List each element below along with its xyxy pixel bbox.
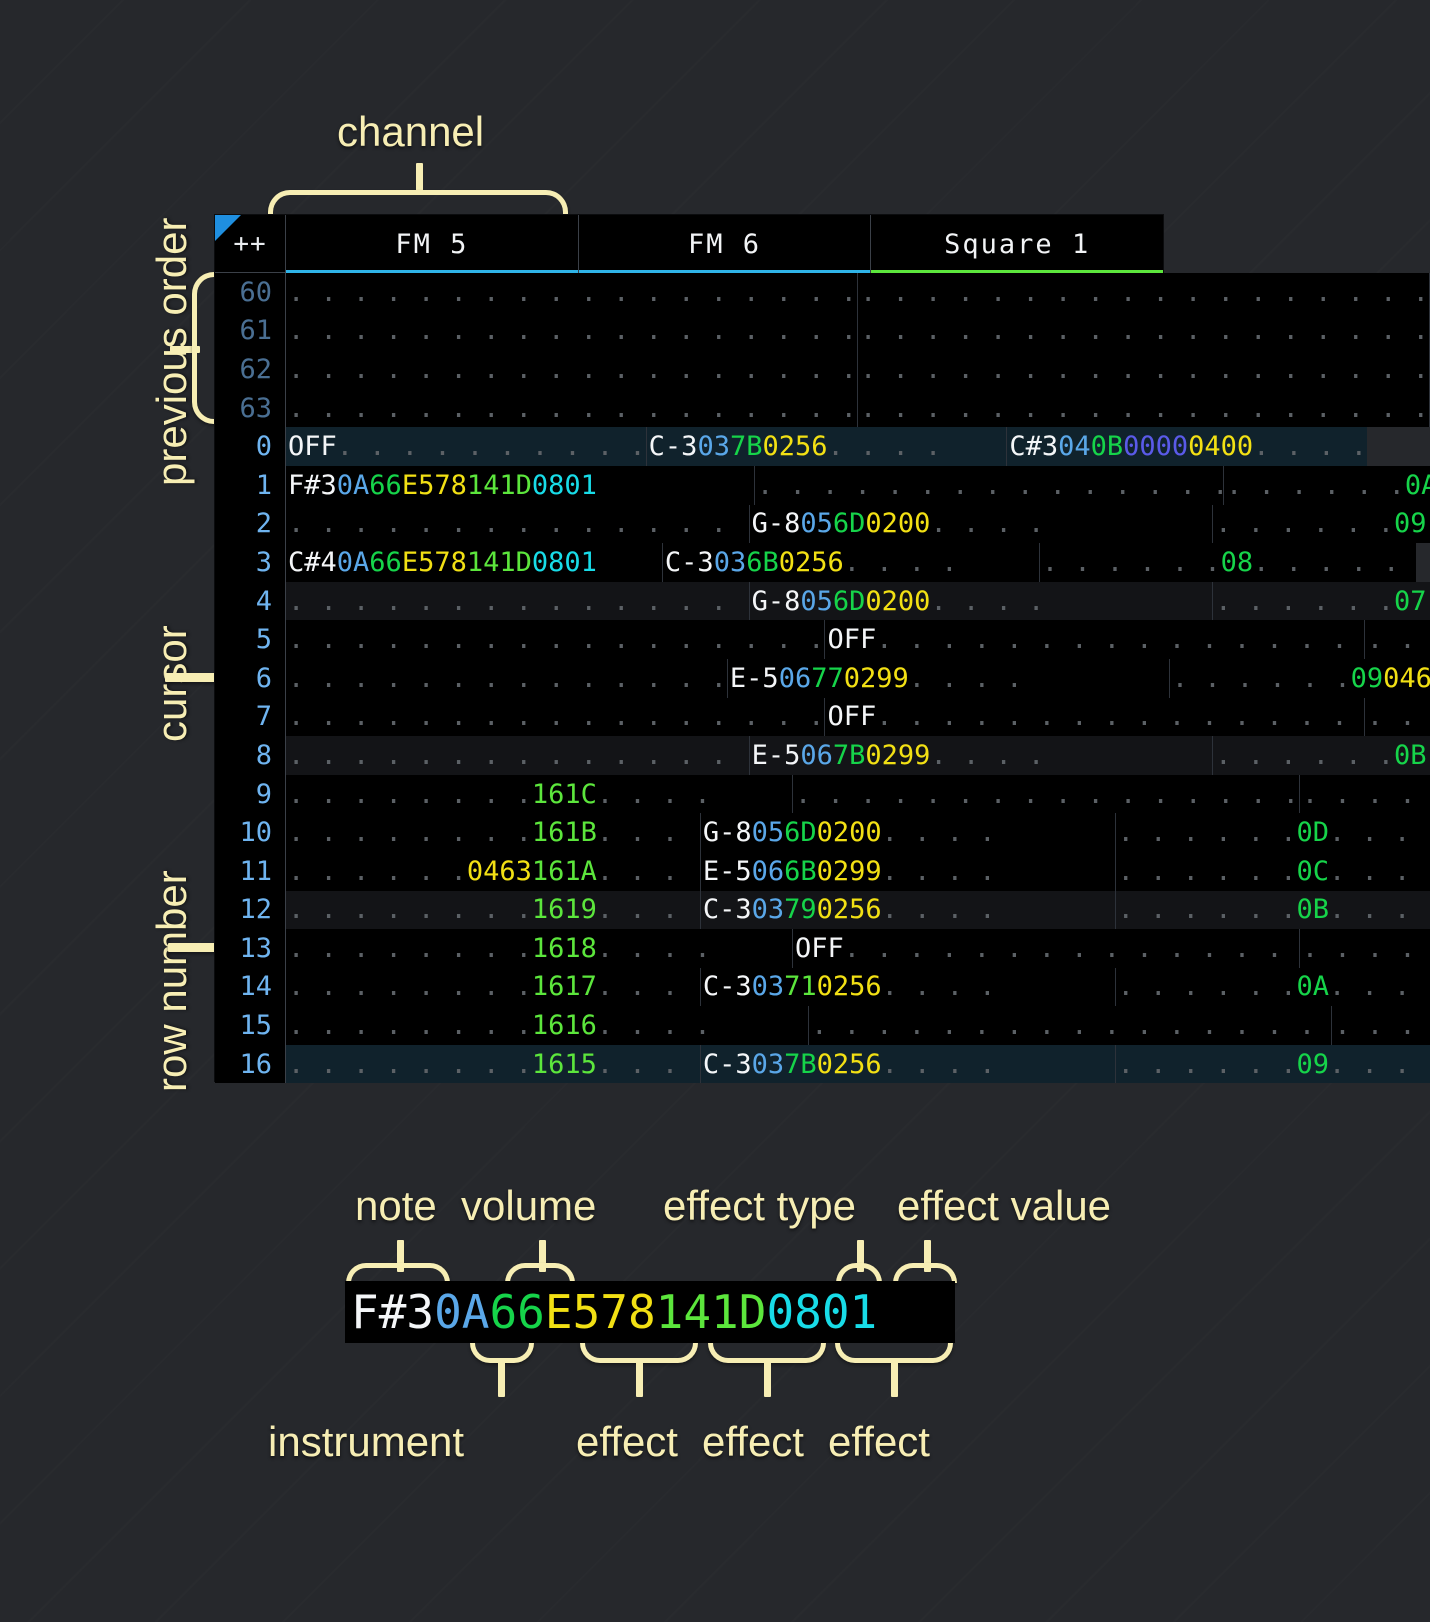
pattern-segment: 0A [337,470,370,501]
pattern-segment: 141D [467,470,532,501]
pattern-segment: . . . . . . . . . . [1427,586,1430,617]
row-number: 9 [215,775,286,814]
row-number: 63 [215,389,286,428]
pattern-row-cells: OFF. . . . . . . . . .0A00C-3037B0256. .… [286,427,1367,466]
pattern-row-cells: . . . . . .0463161A. . . .E-5066B0299. .… [286,852,1430,891]
pattern-row[interactable]: 10. . . . . . . .161B. . . .G-8056D0200.… [215,813,1163,852]
row-number: 8 [215,736,286,775]
pattern-cell[interactable]: . . . . . . . . . . . . . . . . . . [755,466,1224,505]
pattern-segment: . . . . . . [1215,586,1394,617]
pattern-segment: 6B [784,856,817,887]
pattern-row[interactable]: 61. . . . . . . . . . . . . . . . . .. .… [215,312,1163,351]
pattern-segment: 0A [1296,971,1329,1002]
pattern-cell[interactable]: . . . . . . . .1619. . . . [286,891,701,930]
pattern-cell[interactable]: C-3036B0256. . . . [663,543,1040,582]
pattern-segment: 0256 [762,431,827,462]
pattern-segment: 0400 [1188,431,1253,462]
pattern-segment: . . . . . . . . . . [1329,817,1430,848]
pattern-segment: . . . . . . . . . . . . . . . . . . [757,470,1224,501]
pattern-segment: . . . . . . . . . . . . . . . . . . [1302,933,1430,964]
pattern-cell[interactable]: . . . . . . . .161C. . . . [286,775,793,814]
order-corner-cell[interactable]: ++ [215,215,286,273]
pattern-segment: . . . . . . [288,856,467,887]
pattern-cell[interactable]: . . . . . .0A. . . . . . . . . . [1116,968,1430,1007]
pattern-segment: . . . . [930,740,1044,771]
pattern-cell[interactable]: G-8056D0200. . . . [750,582,1214,621]
row-number: 16 [215,1045,286,1084]
pattern-segment: . . . . . . . . [288,894,532,925]
pattern-segment: 79 [784,894,817,925]
pattern-row-cells: . . . . . . . .1619. . . .C-303790256. .… [286,891,1430,930]
pattern-row[interactable]: 15. . . . . . . .1616. . . .. . . . . . … [215,1006,1163,1045]
annotation-effect3-bracket [835,1343,953,1363]
pattern-segment: 141D [467,547,532,578]
pattern-segment: . . . . . . [1118,894,1297,925]
pattern-cell[interactable]: . . . . . .0B. . . . . . . . . . [1116,891,1430,930]
pattern-segment: . . . . . . . . . . . . . . . . . . [288,393,857,424]
detail-effect-1: E578 [545,1285,656,1339]
pattern-segment: . . . . . . [1042,547,1221,578]
pattern-segment: . . . . [882,894,996,925]
annotation-effect2-bracket [708,1343,826,1363]
pattern-cell[interactable]: . . . . . . . . . . . . . . . . . . [286,698,825,737]
pattern-cell[interactable]: . . . . . .0D. . . . . . . . . . [1116,813,1430,852]
pattern-row[interactable]: 0OFF. . . . . . . . . .0A00C-3037B0256. … [215,427,1163,466]
pattern-segment: . . . . . . . . . . . . . . . . . . [795,779,1300,810]
pattern-segment: G-8 [703,817,752,848]
pattern-segment: OFF [827,701,876,732]
row-number: 11 [215,852,286,891]
pattern-segment: 0000 [1123,431,1188,462]
pattern-row[interactable]: 63. . . . . . . . . . . . . . . . . .. .… [215,389,1163,428]
pattern-segment: . . . . . . . . . . [1329,894,1430,925]
pattern-segment: 0801 [532,547,597,578]
pattern-cell[interactable]: . . . . . . . . . . . . . . . . . . [286,505,750,544]
detail-effect-3: 0801 [766,1285,877,1339]
row-number: 12 [215,891,286,930]
pattern-cell[interactable]: G-8056D0200. . . . [701,813,1116,852]
pattern-segment: . . . . [882,856,996,887]
pattern-segment: 03 [714,547,747,578]
pattern-row-cells: . . . . . . . .1617. . . .C-303710256. .… [286,968,1430,1007]
detail-note: F#3 [351,1285,434,1339]
pattern-segment: 0464 [1383,663,1430,694]
pattern-cell[interactable]: . . . . . . . . . . . . . . . . . . [858,273,1430,312]
pattern-cell[interactable]: . . . . . . . . . . . . . . . . . . [286,582,750,621]
pattern-segment: 03 [752,1049,785,1080]
annotation-previous-order-bracket [192,272,216,424]
pattern-row-cells: . . . . . . . .161B. . . .G-8056D0200. .… [286,813,1430,852]
pattern-row-cells: . . . . . . . . . . . . . . . . . .G-805… [286,582,1430,621]
row-number: 1 [215,466,286,505]
pattern-segment: OFF [795,933,844,964]
pattern-cell[interactable]: . . . . . . . . . . . . . . . . . . [1332,1006,1430,1045]
pattern-segment: 0A [1405,470,1430,501]
pattern-segment: G-8 [752,508,801,539]
annotation-effect1-stem [636,1361,643,1397]
pattern-segment: 0B [1296,894,1329,925]
channel-name: FM 5 [395,229,468,260]
pattern-segment: 06 [752,856,785,887]
annotation-effect-value-bracket [893,1263,957,1283]
pattern-cell[interactable]: . . . . . . . . . . . . . . . . . . [286,350,858,389]
pattern-row[interactable]: 7. . . . . . . . . . . . . . . . . .OFF.… [215,698,1163,737]
pattern-segment: . . . . . . [1215,740,1394,771]
row-number: 13 [215,929,286,968]
pattern-cell[interactable]: . . . . . . . .1618. . . . [286,929,793,968]
pattern-segment: . . . . . . . . . . . . . . . . . . [288,586,750,617]
annotation-cursor-label: cursor [148,625,196,742]
pattern-segment: 0D [1296,817,1329,848]
pattern-cell[interactable]: . . . . . .0A. . . . . . . . . . [1224,466,1430,505]
pattern-segment: 0256 [779,547,844,578]
pattern-cell[interactable]: G-8056D0200. . . . [750,505,1214,544]
pattern-row-cells: . . . . . . . . . . . . . . . . . .. . .… [286,273,1430,312]
pattern-segment: . . . . . . . . . . . . . . . . . . [288,624,825,655]
pattern-cell[interactable]: . . . . . . . . . . . . . . . . . . [858,312,1430,351]
row-number: 10 [215,813,286,852]
pattern-segment: 77 [811,663,844,694]
pattern-segment: C#3 [1009,431,1058,462]
pattern-segment: 07 [1394,586,1427,617]
pattern-segment: . . . . . . . . . . . . . . . . . . [288,663,728,694]
pattern-row-cells: . . . . . . . . . . . . . . . . . .G-805… [286,505,1430,544]
annotation-effect2-label: effect [702,1418,804,1466]
row-number: 14 [215,968,286,1007]
pattern-cell[interactable]: OFF. . . . . . . . . . . . . . . [825,620,1364,659]
annotation-instrument-bracket [470,1343,534,1363]
corner-triangle-icon [215,215,241,241]
pattern-row[interactable]: 5. . . . . . . . . . . . . . . . . .OFF.… [215,620,1163,659]
pattern-segment: 0B [1091,431,1124,462]
annotation-instrument-stem [498,1361,505,1397]
pattern-segment: . . . . [597,779,711,810]
pattern-row-cells: . . . . . . . .1615. . . .C-3037B0256. .… [286,1045,1430,1084]
annotation-effect3-label: effect [828,1418,930,1466]
pattern-segment: . . . . . . . . . . . . . . . . . . [288,701,825,732]
pattern-segment: E-5 [730,663,779,694]
pattern-segment: . . . . [597,933,711,964]
pattern-segment: . . . . . . [1118,856,1297,887]
pattern-segment: . . . . . . . . [288,933,532,964]
pattern-segment: . . . . [597,1049,701,1080]
pattern-segment: 7B [730,431,763,462]
pattern-segment: F#3 [288,470,337,501]
pattern-segment: . . . . . . [1367,624,1430,655]
pattern-segment: . . . . [597,894,701,925]
channel-header-row: ++ FM 5 FM 6 Square 1 [215,215,1163,273]
pattern-cell[interactable]: C-3037B0256. . . . [701,1045,1116,1084]
pattern-segment: . . . . . . [1118,1049,1297,1080]
pattern-segment: 1616 [532,1010,597,1041]
pattern-cell[interactable]: . . . . . .09. . . . . . . . . . [1116,1045,1430,1084]
pattern-segment: 03 [752,971,785,1002]
row-number: 62 [215,350,286,389]
pattern-segment: 0463 [467,856,532,887]
pattern-segment: . . . . [828,431,942,462]
annotation-effect-type-bracket [836,1263,882,1283]
pattern-row[interactable]: 8. . . . . . . . . . . . . . . . . .E-50… [215,736,1163,775]
pattern-segment: . . . . [597,971,701,1002]
pattern-cell[interactable]: E-506770299. . . . [728,659,1170,698]
pattern-cell[interactable]: . . . . . . . . . . . . . . . . . . [286,273,858,312]
channel-header-fm5[interactable]: FM 5 [286,215,579,273]
detail-effect-2: 141D [656,1285,767,1339]
pattern-row[interactable]: 16. . . . . . . .1615. . . .C-3037B0256.… [215,1045,1163,1084]
pattern-cell[interactable]: OFF. . . . . . . . . . . . . . . [825,698,1364,737]
pattern-segment: . . . . . . [1367,701,1430,732]
pattern-cell[interactable]: E-5066B0299. . . . [701,852,1116,891]
pattern-cell[interactable]: OFF. . . . . . . . . . . . . . . [793,929,1300,968]
pattern-segment: . . . . . . [1118,817,1297,848]
pattern-segment: 161B [532,817,597,848]
pattern-segment: . . . . . . . . . . . . . . . . . . [860,354,1429,385]
pattern-segment: . . . . [909,663,1023,694]
pattern-segment: . . . . [882,971,996,1002]
pattern-row[interactable]: 14. . . . . . . .1617. . . .C-303710256.… [215,968,1163,1007]
pattern-segment: C-3 [703,894,752,925]
pattern-segment: 1618 [532,933,597,964]
detail-instrument: 0A [434,1285,489,1339]
pattern-row-cells: . . . . . . . .1616. . . .. . . . . . . … [286,1006,1430,1045]
row-number: 60 [215,273,286,312]
pattern-cell[interactable]: . . . . . . . . . . . . . . . . . . [286,312,858,351]
annotation-channel-stem [416,163,423,193]
pattern-segment: . . . . [882,1049,996,1080]
annotation-effect-value-label: effect value [897,1182,1111,1230]
pattern-segment: 1619 [532,894,597,925]
pattern-segment: 0256 [817,971,882,1002]
row-number: 5 [215,620,286,659]
pattern-row-cells: . . . . . . . . . . . . . . . . . .OFF. … [286,698,1430,737]
pattern-segment: . . . . . . . . [288,1049,532,1080]
pattern-segment: 6D [833,586,866,617]
pattern-row[interactable]: 12. . . . . . . .1619. . . .C-303790256.… [215,891,1163,930]
pattern-cell[interactable]: . . . . . .0A. . . . . . . . . . [1365,698,1430,737]
pattern-row[interactable]: 3C#40A66E578141D0801C-3036B0256. . . .. … [215,543,1163,582]
pattern-segment: 0C [1296,856,1329,887]
annotation-volume-label: volume [461,1182,596,1230]
annotation-note-bracket [346,1263,450,1283]
pattern-row[interactable]: 9. . . . . . . .161C. . . .. . . . . . .… [215,775,1163,814]
pattern-cell[interactable]: OFF. . . . . . . . . .0A00 [286,427,647,466]
pattern-cell[interactable]: . . . . . . . . . . . . . . . . . . [286,389,858,428]
pattern-segment: . . . . . . . . . . . . . . . . . . [860,277,1429,308]
pattern-segment: 1615 [532,1049,597,1080]
pattern-segment: . . . . [844,547,958,578]
row-number: 2 [215,505,286,544]
pattern-segment: 09 [1351,663,1384,694]
channel-header-fm6[interactable]: FM 6 [579,215,872,273]
pattern-row-cells: . . . . . . . . . . . . . . . . . .. . .… [286,350,1430,389]
pattern-segment: . . . . . . . . . . [1329,1049,1430,1080]
pattern-cell[interactable]: . . . . . . . .1617. . . . [286,968,701,1007]
pattern-row-cells: . . . . . . . . . . . . . . . . . .. . .… [286,389,1430,428]
pattern-segment: OFF [288,431,337,462]
pattern-segment: 03 [697,431,730,462]
pattern-row-cells: . . . . . . . .161C. . . .. . . . . . . … [286,775,1430,814]
annotation-effect1-bracket [580,1343,698,1363]
row-number: 61 [215,312,286,351]
pattern-row[interactable]: 62. . . . . . . . . . . . . . . . . .. .… [215,350,1163,389]
pattern-segment: . . . . . . . . [288,817,532,848]
channel-name: Square 1 [944,229,1090,260]
pattern-segment: . . . . . . [1215,508,1394,539]
pattern-row[interactable]: 1F#30A66E578141D0801. . . . . . . . . . … [215,466,1163,505]
pattern-cell[interactable]: . . . . . . . . . . . . . . . . . . [858,389,1430,428]
pattern-segment: E578 [402,470,467,501]
pattern-segment: 05 [800,586,833,617]
pattern-segment: . . . . [1253,431,1367,462]
row-number: 15 [215,1006,286,1045]
pattern-row[interactable]: 6. . . . . . . . . . . . . . . . . .E-50… [215,659,1163,698]
pattern-segment: . . . . [597,817,701,848]
pattern-segment: 03 [752,894,785,925]
pattern-cell[interactable]: . . . . . . . .161B. . . . [286,813,701,852]
pattern-segment: C#4 [288,547,337,578]
pattern-segment: C-3 [703,971,752,1002]
pattern-segment: 0801 [532,470,597,501]
pattern-row[interactable]: 4. . . . . . . . . . . . . . . . . .G-80… [215,582,1163,621]
pattern-segment: . . . . [882,817,996,848]
pattern-cell[interactable]: . . . . . .0C. . . . . . . . . . [1300,775,1430,814]
pattern-segment: . . . . . . . . . . [1253,547,1416,578]
pattern-segment: E-5 [752,740,801,771]
pattern-row[interactable]: 11. . . . . .0463161A. . . .E-5066B0299.… [215,852,1163,891]
pattern-segment: . . . . [597,856,701,887]
pattern-cell[interactable]: C-3037B0256. . . . [647,427,1008,466]
pattern-segment: . . . . [930,586,1044,617]
annotation-instrument-label: instrument [268,1418,464,1466]
pattern-segment: . . . . . . . . . . [1329,971,1430,1002]
pattern-cell[interactable]: C#3040B00000400. . . . [1007,427,1367,466]
pattern-row-cells: . . . . . . . . . . . . . . . . . .. . .… [286,312,1430,351]
pattern-row-cells: F#30A66E578141D0801. . . . . . . . . . .… [286,466,1430,505]
pattern-segment: 66 [369,470,402,501]
row-number: 6 [215,659,286,698]
pattern-segment: . . . . . . . . . . . . . . . . . . [1334,1010,1430,1041]
pattern-cell[interactable]: . . . . . . . . . . . . . . . . . . [286,659,728,698]
pattern-cell[interactable]: F#30A66E578141D0801 [286,466,755,505]
pattern-segment: 06 [800,740,833,771]
pattern-segment: 71 [784,971,817,1002]
pattern-row[interactable]: 2. . . . . . . . . . . . . . . . . .G-80… [215,505,1163,544]
pattern-segment: . . . . . . . . . . [1329,856,1430,887]
pattern-segment: . . . . [597,1010,711,1041]
pattern-segment: 0200 [865,586,930,617]
pattern-segment: 6D [784,817,817,848]
detail-volume: 66 [489,1285,544,1339]
pattern-segment: . . . . . . . . . . . . . . . . . . [288,508,750,539]
pattern-cell[interactable]: . . . . . .0463161A. . . . [286,852,701,891]
annotation-channel-bracket [268,190,568,214]
pattern-segment: 0200 [865,508,930,539]
pattern-segment: . . . . [930,508,1044,539]
pattern-segment: . . . . . . . . . . [337,431,646,462]
pattern-tracker-panel[interactable]: ++ FM 5 FM 6 Square 1 60. . . . . . . . … [215,215,1163,1081]
pattern-cell[interactable]: . . . . . . . . . . . . . . . . . . [1300,929,1430,968]
pattern-cell[interactable]: C-303710256. . . . [701,968,1116,1007]
pattern-segment: 161C [532,779,597,810]
pattern-cell[interactable]: . . . . . . . . . . . . . . . . . . [286,736,750,775]
pattern-cell[interactable]: . . . . . .07. . . . . . . . . . [1213,582,1430,621]
pattern-segment: . . . . . . . . . . [1427,740,1430,771]
pattern-segment: 0200 [817,817,882,848]
pattern-cell[interactable]: . . . . . . . . . . . . . . . . . . [793,775,1300,814]
pattern-segment: 0256 [817,1049,882,1080]
pattern-segment: 09 [1296,1049,1329,1080]
pattern-segment: 6D [833,508,866,539]
pattern-segment: 7B [784,1049,817,1080]
annotation-effect-type-label: effect type [663,1182,856,1230]
pattern-segment: 1617 [532,971,597,1002]
pattern-row[interactable]: 13. . . . . . . .1618. . . .OFF. . . . .… [215,929,1163,968]
pattern-cell[interactable]: . . . . . .08. . . . . . . . . . [1365,620,1430,659]
pattern-segment: . . . . . . . . . . . . . . . . . . [860,315,1429,346]
pattern-segment: 0B [1394,740,1427,771]
pattern-segment: . . . . . . [1226,470,1405,501]
pattern-segment: . . . . . . . . . . . . . . . . . . [288,315,857,346]
annotation-volume-bracket [505,1263,575,1283]
pattern-cell[interactable]: . . . . . .090464. . . . . . [1170,659,1430,698]
pattern-cell[interactable]: . . . . . . . .1615. . . . [286,1045,701,1084]
annotation-effect2-stem [764,1361,771,1397]
pattern-row-cells: . . . . . . . . . . . . . . . . . .E-506… [286,736,1430,775]
pattern-segment: C-3 [703,1049,752,1080]
pattern-segment: OFF [827,624,876,655]
pattern-cell[interactable]: . . . . . .08. . . . . . . . . . [1040,543,1416,582]
pattern-cell[interactable]: C#40A66E578141D0801 [286,543,663,582]
pattern-row[interactable]: 60. . . . . . . . . . . . . . . . . .. .… [215,273,1163,312]
pattern-row-cells: C#40A66E578141D0801C-3036B0256. . . .. .… [286,543,1416,582]
pattern-segment: 66 [369,547,402,578]
annotation-effect3-stem [891,1361,898,1397]
pattern-segment: . . . . . . . . . . . . . . . . . . [288,277,857,308]
pattern-segment: . . . . . . . . . . . . . . . . . . [860,393,1429,424]
pattern-segment: . . . . . . [1118,971,1297,1002]
pattern-segment: . . . . . . . . . . . . . . . [844,933,1300,964]
pattern-cell[interactable]: . . . . . .0C. . . . . . . . . . [1116,852,1430,891]
pattern-cell[interactable]: C-303790256. . . . [701,891,1116,930]
pattern-segment: 05 [800,508,833,539]
pattern-cell[interactable]: . . . . . .0B. . . . . . . . . . [1213,736,1430,775]
pattern-cell[interactable]: . . . . . . . . . . . . . . . . . . [809,1006,1332,1045]
pattern-segment: 0256 [817,894,882,925]
channel-header-square1[interactable]: Square 1 [871,215,1163,273]
annotation-channel-label: channel [337,108,484,156]
pattern-segment: E578 [402,547,467,578]
annotation-note-label: note [355,1182,437,1230]
pattern-cell[interactable]: . . . . . . . . . . . . . . . . . . [286,620,825,659]
pattern-segment: . . . . . . . . . . . . . . . . . . [288,740,750,771]
pattern-segment: G-8 [752,586,801,617]
pattern-segment: 161A [532,856,597,887]
pattern-cell[interactable]: E-5067B0299. . . . [750,736,1214,775]
pattern-row-cells: . . . . . . . . . . . . . . . . . .E-506… [286,659,1430,698]
pattern-cell[interactable]: . . . . . .09. . . . . . . . . . [1213,505,1430,544]
pattern-segment: . . . . . . . . . . . . . . . . . . [288,354,857,385]
pattern-cell[interactable]: . . . . . . . .1616. . . . [286,1006,809,1045]
pattern-cell[interactable]: . . . . . . . . . . . . . . . . . . [858,350,1430,389]
pattern-segment: 0299 [865,740,930,771]
pattern-segment: . . . . . . . . [288,971,532,1002]
pattern-segment: 0A [337,547,370,578]
pattern-segment: 7B [833,740,866,771]
row-number: 7 [215,698,286,737]
pattern-segment: 0299 [844,663,909,694]
pattern-segment: 08 [1221,547,1254,578]
pattern-grid[interactable]: 60. . . . . . . . . . . . . . . . . .. .… [215,273,1163,1083]
